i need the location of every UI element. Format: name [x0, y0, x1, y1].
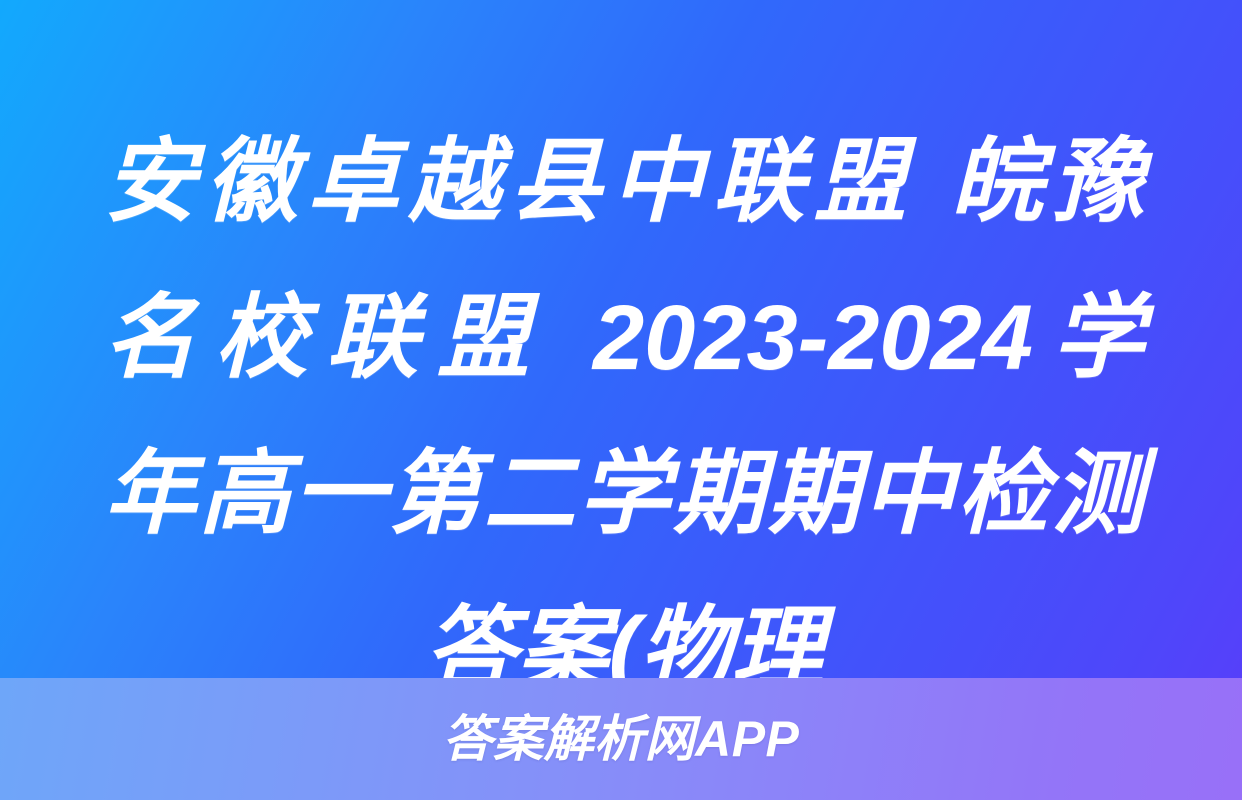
poster-root: 安徽卓越县中联盟 皖豫 名校联盟 2023-2024学 年高一第二学期期中检测 …	[0, 0, 1242, 800]
poster-title: 安徽卓越县中联盟 皖豫 名校联盟 2023-2024学 年高一第二学期期中检测 …	[104, 104, 1144, 728]
brand-label: 答案解析网APP	[443, 714, 800, 764]
title-line-3: 年高一第二学期期中检测	[104, 416, 1144, 572]
footer-brand-band: 答案解析网APP	[0, 678, 1242, 800]
title-line-1: 安徽卓越县中联盟 皖豫	[104, 104, 1144, 260]
title-line-2: 名校联盟 2023-2024学	[104, 260, 1144, 416]
